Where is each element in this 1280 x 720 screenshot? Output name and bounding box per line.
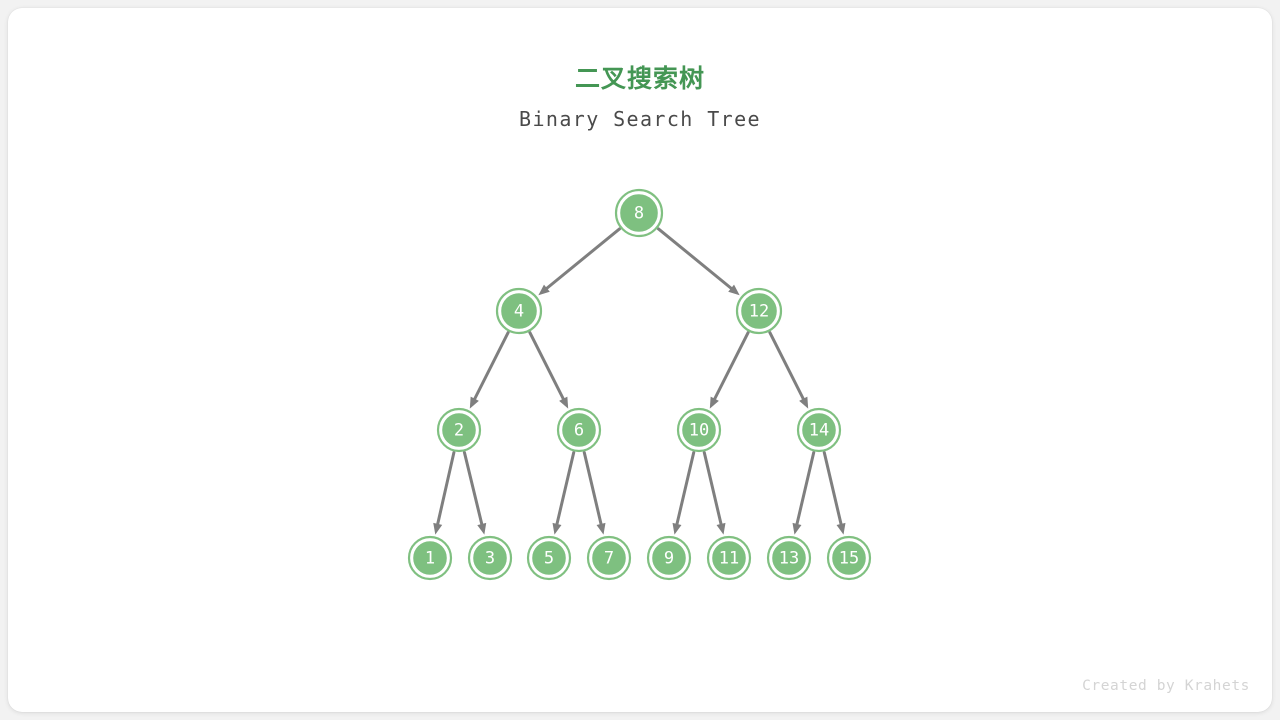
diagram-card: 二叉搜索树 Binary Search Tree 841226101413579…	[8, 8, 1272, 712]
tree-edge	[557, 452, 574, 524]
tree-node-4[interactable]: 4	[497, 289, 541, 333]
tree-node-1[interactable]: 1	[409, 537, 451, 579]
tree-edge	[547, 229, 620, 288]
tree-edge	[438, 452, 454, 523]
node-value-label: 6	[574, 421, 584, 441]
node-value-label: 4	[514, 302, 524, 322]
node-value-label: 7	[604, 549, 614, 569]
edge-arrowhead	[717, 523, 726, 535]
tree-edge	[658, 229, 731, 288]
credit-text: Created by Krahets	[1082, 678, 1250, 694]
edge-arrowhead	[477, 523, 486, 535]
edge-arrowhead	[433, 523, 442, 535]
tree-node-8[interactable]: 8	[616, 190, 662, 236]
node-value-label: 14	[809, 421, 829, 441]
edge-arrowhead	[837, 523, 846, 535]
edge-arrowhead	[793, 523, 802, 535]
tree-node-2[interactable]: 2	[438, 409, 480, 451]
node-value-label: 3	[485, 549, 495, 569]
edge-arrowhead	[553, 523, 562, 535]
tree-node-9[interactable]: 9	[648, 537, 690, 579]
tree-nodes: 841226101413579111315	[409, 190, 870, 579]
tree-node-14[interactable]: 14	[798, 409, 840, 451]
tree-edge	[475, 332, 508, 398]
tree-edge	[584, 452, 601, 524]
tree-edge	[677, 452, 694, 524]
node-value-label: 15	[839, 549, 859, 569]
binary-search-tree-diagram: 841226101413579111315	[8, 8, 1272, 712]
node-value-label: 12	[749, 302, 769, 322]
tree-node-12[interactable]: 12	[737, 289, 781, 333]
node-value-label: 13	[779, 549, 799, 569]
tree-edge	[770, 332, 803, 398]
node-value-label: 11	[719, 549, 739, 569]
node-value-label: 8	[634, 204, 644, 224]
node-value-label: 9	[664, 549, 674, 569]
edge-arrowhead	[597, 523, 606, 535]
tree-node-13[interactable]: 13	[768, 537, 810, 579]
tree-edge	[824, 452, 841, 524]
tree-node-7[interactable]: 7	[588, 537, 630, 579]
node-value-label: 2	[454, 421, 464, 441]
tree-edge	[530, 332, 563, 398]
tree-edge	[797, 452, 814, 524]
node-value-label: 1	[425, 549, 435, 569]
tree-edge	[464, 452, 481, 524]
node-value-label: 5	[544, 549, 554, 569]
tree-node-15[interactable]: 15	[828, 537, 870, 579]
tree-node-6[interactable]: 6	[558, 409, 600, 451]
tree-edges	[433, 229, 845, 535]
tree-node-5[interactable]: 5	[528, 537, 570, 579]
tree-node-3[interactable]: 3	[469, 537, 511, 579]
tree-edge	[715, 332, 748, 398]
node-value-label: 10	[689, 421, 709, 441]
tree-node-10[interactable]: 10	[678, 409, 720, 451]
tree-node-11[interactable]: 11	[708, 537, 750, 579]
tree-edge	[704, 452, 721, 524]
edge-arrowhead	[673, 523, 682, 535]
